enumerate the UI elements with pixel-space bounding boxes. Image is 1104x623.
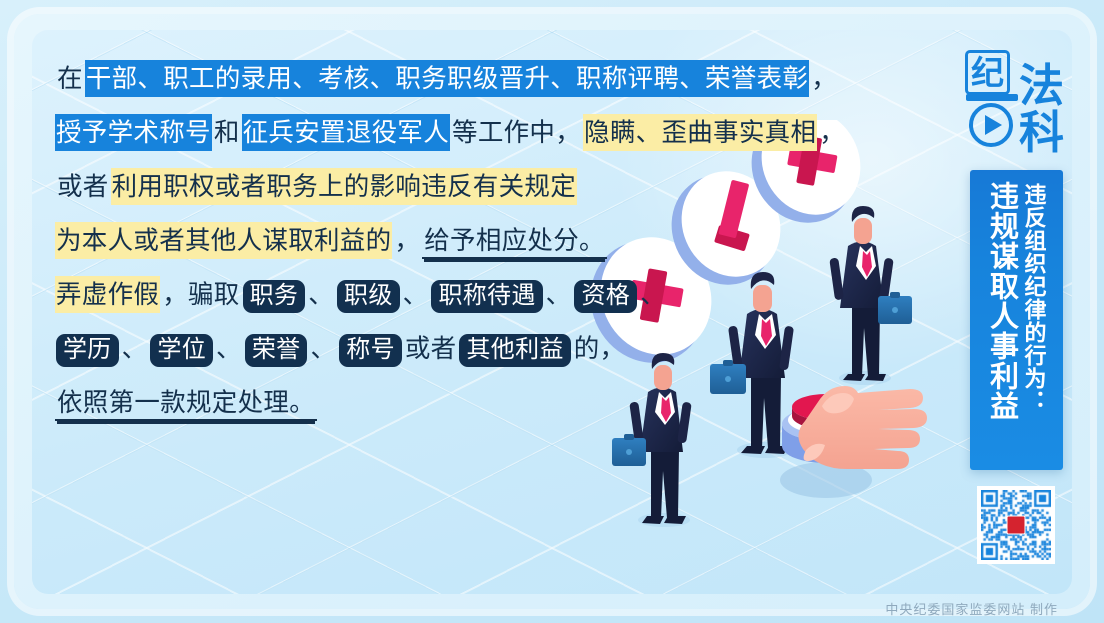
legal-text-body: 在干部、职工的录用、考核、职务职级晋升、职称评聘、荣誉表彰，授予学术称号和征兵安… (55, 52, 835, 430)
text-segment-pill: 荣誉 (245, 334, 308, 367)
text-segment-plain: 、 (638, 279, 668, 310)
banner-topic-label: 违规谋取人事利益 (985, 181, 1018, 457)
text-segment-plain: 、 (120, 333, 150, 364)
text-line: 或者利用职权或者职务上的影响违反有关规定 (55, 160, 835, 214)
text-segment-yellow: 为本人或者其他人谋取利益的 (55, 222, 392, 259)
text-line: 在干部、职工的录用、考核、职务职级晋升、职称评聘、荣誉表彰， (55, 52, 835, 106)
text-line: 为本人或者其他人谋取利益的，给予相应处分。 (55, 214, 835, 268)
text-segment-double-underline: 依照第一款规定处理。 (55, 387, 317, 421)
text-segment-pill: 资格 (574, 280, 637, 313)
text-segment-plain: 的， (572, 333, 628, 364)
text-segment-blue: 征兵安置退役军人 (242, 114, 450, 151)
text-segment-plain: 或者 (403, 333, 459, 364)
text-segment-pill: 学历 (56, 334, 119, 367)
text-segment-pill: 学位 (150, 334, 213, 367)
text-segment-pill: 其他利益 (459, 334, 570, 367)
qr-center-badge (1007, 516, 1026, 535)
vertical-title-banner: 违反组织纪律的行为： 违规谋取人事利益 (970, 170, 1063, 470)
text-segment-plain: 、 (306, 279, 336, 310)
text-segment-plain: 、 (308, 333, 338, 364)
text-segment-plain: 、 (401, 279, 431, 310)
play-triangle-icon (985, 115, 1002, 135)
brand-logo[interactable]: 纪 法 科 (964, 46, 1068, 164)
text-segment-blue: 干部、职工的录用、考核、职务职级晋升、职称评聘、荣誉表彰 (85, 60, 809, 97)
text-segment-plain: ， (809, 63, 839, 94)
text-segment-plain: 和 (212, 117, 242, 148)
businessman-back (829, 206, 912, 385)
infographic-stage: 在干部、职工的录用、考核、职务职级晋升、职称评聘、荣誉表彰，授予学术称号和征兵安… (0, 0, 1104, 623)
text-line: 学历、学位、荣誉、称号或者其他利益的， (55, 322, 835, 376)
text-segment-double-underline: 给予相应处分。 (422, 225, 607, 259)
text-segment-yellow: 弄虚作假 (55, 276, 160, 313)
text-segment-plain: 等工作中， (450, 117, 583, 148)
text-line: 授予学术称号和征兵安置退役军人等工作中，隐瞒、歪曲事实真相， (55, 106, 835, 160)
text-segment-yellow: 隐瞒、歪曲事实真相 (583, 114, 817, 151)
banner-category-label: 违反组织纪律的行为： (1021, 181, 1048, 457)
text-segment-plain: 在 (55, 63, 85, 94)
text-segment-pill: 称号 (339, 334, 402, 367)
text-segment-blue: 授予学术称号 (55, 114, 212, 151)
right-side-panel: 纪 法 科 违反组织纪律的行为： 违规谋取人事利益 (964, 46, 1068, 564)
qr-code[interactable] (977, 486, 1055, 564)
text-segment-plain: 或者 (55, 171, 111, 202)
logo-char-fa: 法 (1019, 63, 1064, 109)
text-segment-yellow: 利用职权或者职务上的影响违反有关规定 (111, 168, 577, 205)
text-segment-plain: 、 (214, 333, 244, 364)
text-segment-plain: 、 (544, 279, 574, 310)
logo-char-ji: 纪 (965, 50, 1010, 95)
text-segment-plain: ， (817, 117, 847, 148)
logo-bai-top-bar (966, 94, 1018, 101)
text-segment-plain: ， (392, 225, 422, 256)
footer-credit: 中央纪委国家监委网站 制作 (885, 599, 1058, 618)
text-line: 弄虚作假，骗取职务、职级、职称待遇、资格、 (55, 268, 835, 322)
text-segment-pill: 职称待遇 (431, 280, 542, 313)
text-segment-pill: 职务 (243, 280, 306, 313)
text-segment-pill: 职级 (337, 280, 400, 313)
logo-char-bai (964, 92, 1020, 148)
text-line: 依照第一款规定处理。 (55, 376, 835, 430)
text-segment-plain: ，骗取 (160, 279, 241, 310)
logo-char-ke: 科 (1019, 110, 1064, 156)
